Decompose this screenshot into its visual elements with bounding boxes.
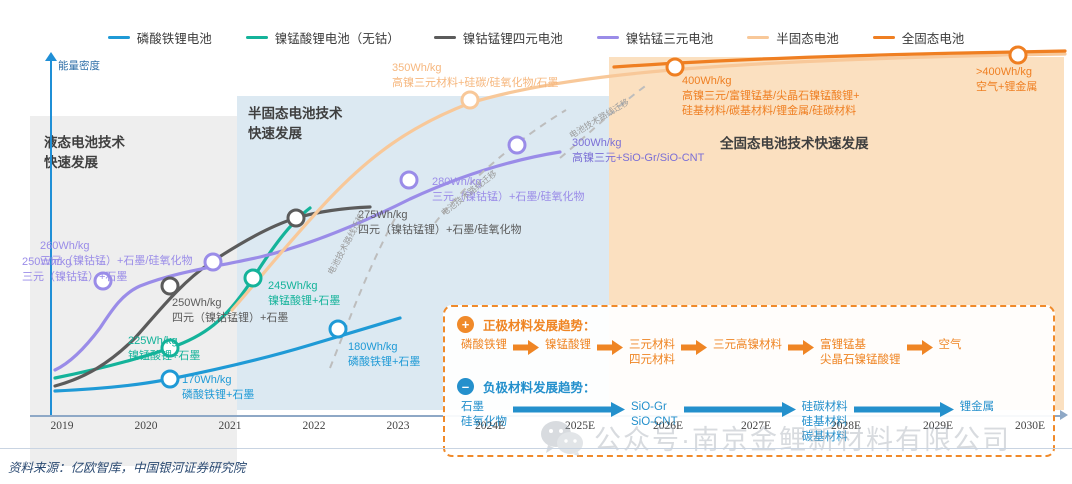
- annotation-material-line2: 硅基材料/碳基材料/锂金属/硅碳材料: [682, 104, 860, 119]
- cathode-step-4: 三元高镍材料: [713, 338, 782, 353]
- anode-trend-title: 负极材料发展趋势：: [483, 377, 596, 396]
- point-semi-solid-350[interactable]: [461, 91, 480, 110]
- annotation-material: 三元（镍钴锰）+石墨/硅氧化物: [40, 254, 192, 269]
- legend-swatch-semi-solid: [747, 36, 769, 39]
- legend-item-semi-solid: 半固态电池: [747, 28, 839, 47]
- anode-step-2-line1: SiO-Gr: [631, 401, 667, 413]
- point-lnmo-245[interactable]: [244, 269, 263, 288]
- legend-item-lnmo: 镍锰酸锂电池（无钴）: [246, 28, 400, 47]
- x-tick-2020: 2020: [135, 420, 158, 432]
- legend-label-lnmo: 镍锰酸锂电池（无钴）: [275, 28, 400, 47]
- annotation-semi-solid-350: 350Wh/kg 高镍三元材料+硅碳/硅氧化物/石墨: [392, 61, 559, 91]
- x-tick-2022: 2022: [303, 420, 326, 432]
- cathode-trend-header: + 正极材料发展趋势：: [457, 315, 1041, 334]
- annotation-material-line1: 高镍三元/富锂锰基/尖晶石镍锰酸锂+: [682, 89, 860, 104]
- cathode-step-3: 三元材料 四元材料: [629, 338, 675, 368]
- annotation-value: 245Wh/kg: [268, 279, 340, 294]
- point-ncm-280[interactable]: [400, 171, 419, 190]
- anode-step-3-line1: 硅碳材料: [802, 401, 848, 413]
- annotation-material: 空气+锂金属: [976, 80, 1037, 95]
- legend-label-semi-solid: 半固态电池: [776, 28, 839, 47]
- cathode-step-5: 富锂锰基 尖晶石镍锰酸锂: [820, 338, 901, 368]
- legend-swatch-lfp: [108, 36, 130, 39]
- annotation-quaternary-275: 275Wh/kg 四元（镍钴锰锂）+石墨/硅氧化物: [358, 208, 521, 238]
- cathode-step-2-line1: 镍锰酸锂: [545, 339, 591, 351]
- annotation-value: 225Wh/kg: [128, 334, 200, 349]
- arrow-right-long-icon: [684, 402, 796, 417]
- legend-label-lfp: 磷酸铁锂电池: [137, 28, 212, 47]
- annotation-value: 180Wh/kg: [348, 340, 420, 355]
- arrow-right-icon: [513, 340, 539, 355]
- point-lfp-170[interactable]: [161, 370, 180, 389]
- annotation-material: 镍锰酸锂+石墨: [128, 349, 200, 364]
- chart-legend: 磷酸铁锂电池 镍锰酸锂电池（无钴） 镍钴锰锂四元电池 镍钴锰三元电池 半固态电池…: [0, 26, 1072, 48]
- anode-step-1-line1: 石墨: [461, 401, 484, 413]
- cathode-trend-title: 正极材料发展趋势：: [483, 315, 596, 334]
- point-quaternary-250[interactable]: [161, 277, 180, 296]
- annotation-material: 镍锰酸锂+石墨: [268, 294, 340, 309]
- annotation-all-solid-over-400: >400Wh/kg 空气+锂金属: [976, 65, 1037, 95]
- annotation-lnmo-245: 245Wh/kg 镍锰酸锂+石墨: [268, 279, 340, 309]
- arrow-right-long-icon: [513, 402, 625, 417]
- curve-semi-solid: [232, 54, 1065, 310]
- cathode-step-2: 镍锰酸锂: [545, 338, 591, 353]
- arrow-right-icon: [907, 340, 933, 355]
- footer-divider: [0, 448, 1072, 449]
- legend-label-quaternary: 镍钴锰锂四元电池: [463, 28, 563, 47]
- point-lfp-180[interactable]: [329, 320, 348, 339]
- annotation-material: 四元（镍钴锰锂）+石墨: [172, 311, 288, 326]
- annotation-material: 四元（镍钴锰锂）+石墨/硅氧化物: [358, 223, 521, 238]
- minus-icon: –: [457, 378, 474, 395]
- annotation-ncm-260: 260Wh/kg 三元（镍钴锰）+石墨/硅氧化物: [40, 239, 192, 269]
- annotation-all-solid-400: 400Wh/kg 高镍三元/富锂锰基/尖晶石镍锰酸锂+ 硅基材料/碳基材料/锂金…: [682, 74, 860, 119]
- point-quaternary-275[interactable]: [287, 209, 306, 228]
- cathode-step-6-line1: 空气: [939, 339, 962, 351]
- point-all-solid-over-400[interactable]: [1009, 46, 1028, 65]
- annotation-material: 三元（镍钴锰）+石墨: [22, 270, 127, 285]
- x-tick-2023: 2023: [387, 420, 410, 432]
- legend-swatch-lnmo: [246, 36, 268, 39]
- annotation-material: 高镍三元+SiO-Gr/SiO-CNT: [572, 151, 704, 166]
- anode-step-4: 锂金属: [960, 400, 995, 415]
- annotation-lfp-170: 170Wh/kg 磷酸铁锂+石墨: [182, 373, 254, 403]
- arrow-right-icon: [788, 340, 814, 355]
- annotation-value: 300Wh/kg: [572, 136, 704, 151]
- annotation-lfp-180: 180Wh/kg 磷酸铁锂+石墨: [348, 340, 420, 370]
- x-tick-2025E: 2025E: [565, 420, 595, 432]
- cathode-step-5-line2: 尖晶石镍锰酸锂: [820, 354, 901, 366]
- cathode-step-6: 空气: [939, 338, 962, 353]
- x-tick-2019: 2019: [51, 420, 74, 432]
- legend-item-lfp: 磷酸铁锂电池: [108, 28, 212, 47]
- cathode-step-3-line1: 三元材料: [629, 339, 675, 351]
- source-note: 资料来源：亿欧智库，中国银河证券研究院: [8, 457, 246, 476]
- x-tick-2027E: 2027E: [741, 420, 771, 432]
- point-ncm-300[interactable]: [508, 136, 527, 155]
- arrow-right-icon: [597, 340, 623, 355]
- annotation-material: 磷酸铁锂+石墨: [182, 388, 254, 403]
- legend-item-ncm: 镍钴锰三元电池: [597, 28, 714, 47]
- legend-label-all-solid: 全固态电池: [902, 28, 965, 47]
- x-tick-2026E: 2026E: [653, 420, 683, 432]
- arrow-right-icon: [681, 340, 707, 355]
- annotation-value: 280Wh/kg: [432, 175, 584, 190]
- annotation-material: 高镍三元材料+硅碳/硅氧化物/石墨: [392, 76, 559, 91]
- x-axis-ticks: 2019 2020 2021 2022 2023 2024E 2025E 202…: [0, 420, 1072, 442]
- legend-swatch-ncm: [597, 36, 619, 39]
- legend-label-ncm: 镍钴锰三元电池: [626, 28, 714, 47]
- cathode-step-4-line1: 三元高镍材料: [713, 339, 782, 351]
- cathode-step-1-line1: 磷酸铁锂: [461, 339, 507, 351]
- cathode-step-1: 磷酸铁锂: [461, 338, 507, 353]
- annotation-material: 磷酸铁锂+石墨: [348, 355, 420, 370]
- x-tick-2024E: 2024E: [475, 420, 505, 432]
- cathode-step-3-line2: 四元材料: [629, 354, 675, 366]
- legend-swatch-quaternary: [434, 36, 456, 39]
- legend-item-quaternary: 镍钴锰锂四元电池: [434, 28, 563, 47]
- annotation-ncm-300: 300Wh/kg 高镍三元+SiO-Gr/SiO-CNT: [572, 136, 704, 166]
- x-tick-2029E: 2029E: [923, 420, 953, 432]
- cathode-step-5-line1: 富锂锰基: [820, 339, 866, 351]
- annotation-value: >400Wh/kg: [976, 65, 1037, 80]
- point-ncm-260[interactable]: [204, 253, 223, 272]
- plus-icon: +: [457, 316, 474, 333]
- chart-plot-area: 液态电池技术 快速发展 半固态电池技术 快速发展 全固态电池技术快速发展 能量密…: [0, 48, 1072, 423]
- x-tick-2021: 2021: [219, 420, 242, 432]
- annotation-value: 260Wh/kg: [40, 239, 192, 254]
- x-tick-2030E: 2030E: [1015, 420, 1045, 432]
- annotation-lnmo-225: 225Wh/kg 镍锰酸锂+石墨: [128, 334, 200, 364]
- anode-step-4-line1: 锂金属: [960, 401, 995, 413]
- anode-trend-header: – 负极材料发展趋势：: [457, 377, 1041, 396]
- cathode-trend-chain: 磷酸铁锂 镍锰酸锂 三元材料 四元材料 三元高镍材料 富锂锰基 尖晶石镍锰酸锂 …: [461, 338, 1041, 368]
- annotation-value: 170Wh/kg: [182, 373, 254, 388]
- x-tick-2028E: 2028E: [831, 420, 861, 432]
- annotation-value: 400Wh/kg: [682, 74, 860, 89]
- annotation-value: 350Wh/kg: [392, 61, 559, 76]
- legend-swatch-all-solid: [873, 36, 895, 39]
- arrow-right-long-icon: [854, 402, 954, 417]
- legend-item-all-solid: 全固态电池: [873, 28, 965, 47]
